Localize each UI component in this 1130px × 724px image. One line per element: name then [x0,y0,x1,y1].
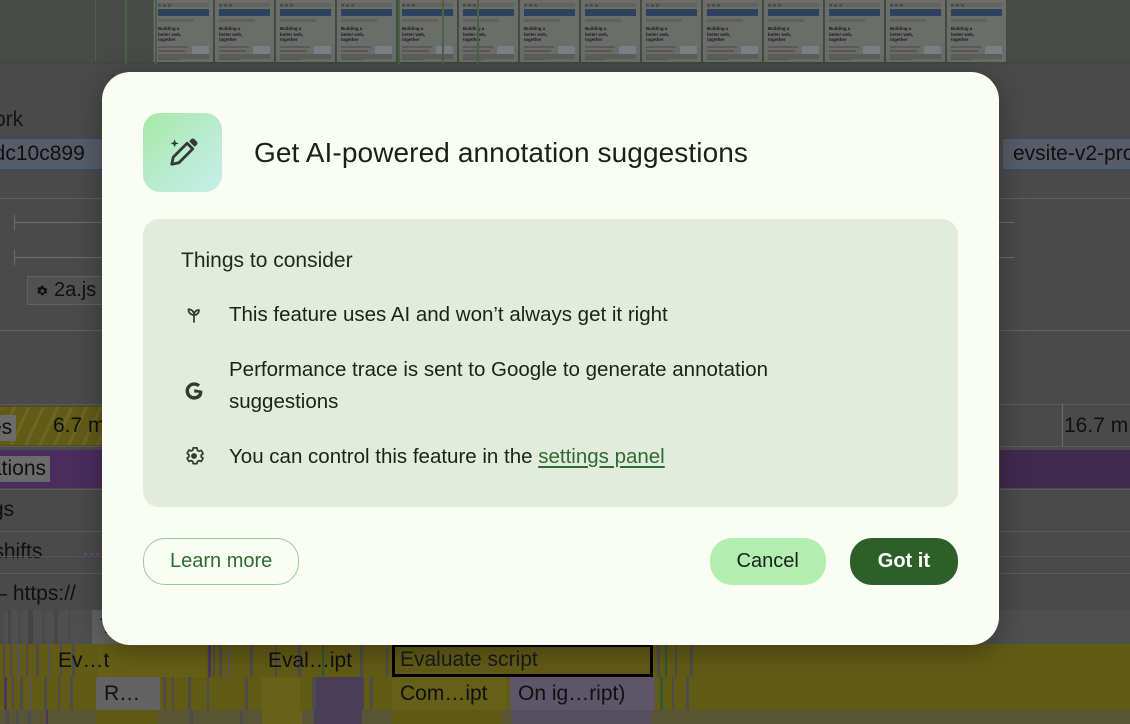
list-item-text: This feature uses AI and won’t always ge… [229,299,668,331]
screenshot-root: Building a better web, togetherBuilding … [0,0,1130,724]
settings-panel-link[interactable]: settings panel [538,445,665,468]
list-item-text: Performance trace is sent to Google to g… [229,354,869,418]
list-item: Performance trace is sent to Google to g… [181,354,924,418]
list-item: This feature uses AI and won’t always ge… [181,299,924,331]
got-it-button[interactable]: Got it [850,538,958,585]
sprout-icon [181,301,207,327]
gear-icon [181,443,207,469]
panel-title: Things to consider [181,249,924,273]
ai-annotation-consent-dialog: Get AI-powered annotation suggestions Th… [102,72,999,645]
learn-more-button[interactable]: Learn more [143,538,299,585]
dialog-title: Get AI-powered annotation suggestions [254,137,748,169]
primary-actions: Cancel Got it [710,538,958,585]
flame-block-label: Evaluate script [400,648,645,672]
list-item-text: You can control this feature in the sett… [229,441,665,473]
consider-list: This feature uses AI and won’t always ge… [181,299,924,473]
dialog-footer: Learn more Cancel Got it [102,507,999,585]
ai-pencil-sparkle-icon [143,113,222,192]
list-item-text-prefix: You can control this feature in the [229,445,538,468]
google-g-icon [181,378,207,404]
dialog-header: Get AI-powered annotation suggestions [102,72,999,192]
list-item: You can control this feature in the sett… [181,441,924,473]
cancel-button[interactable]: Cancel [710,538,826,585]
things-to-consider-panel: Things to consider This feature uses AI … [143,219,958,507]
